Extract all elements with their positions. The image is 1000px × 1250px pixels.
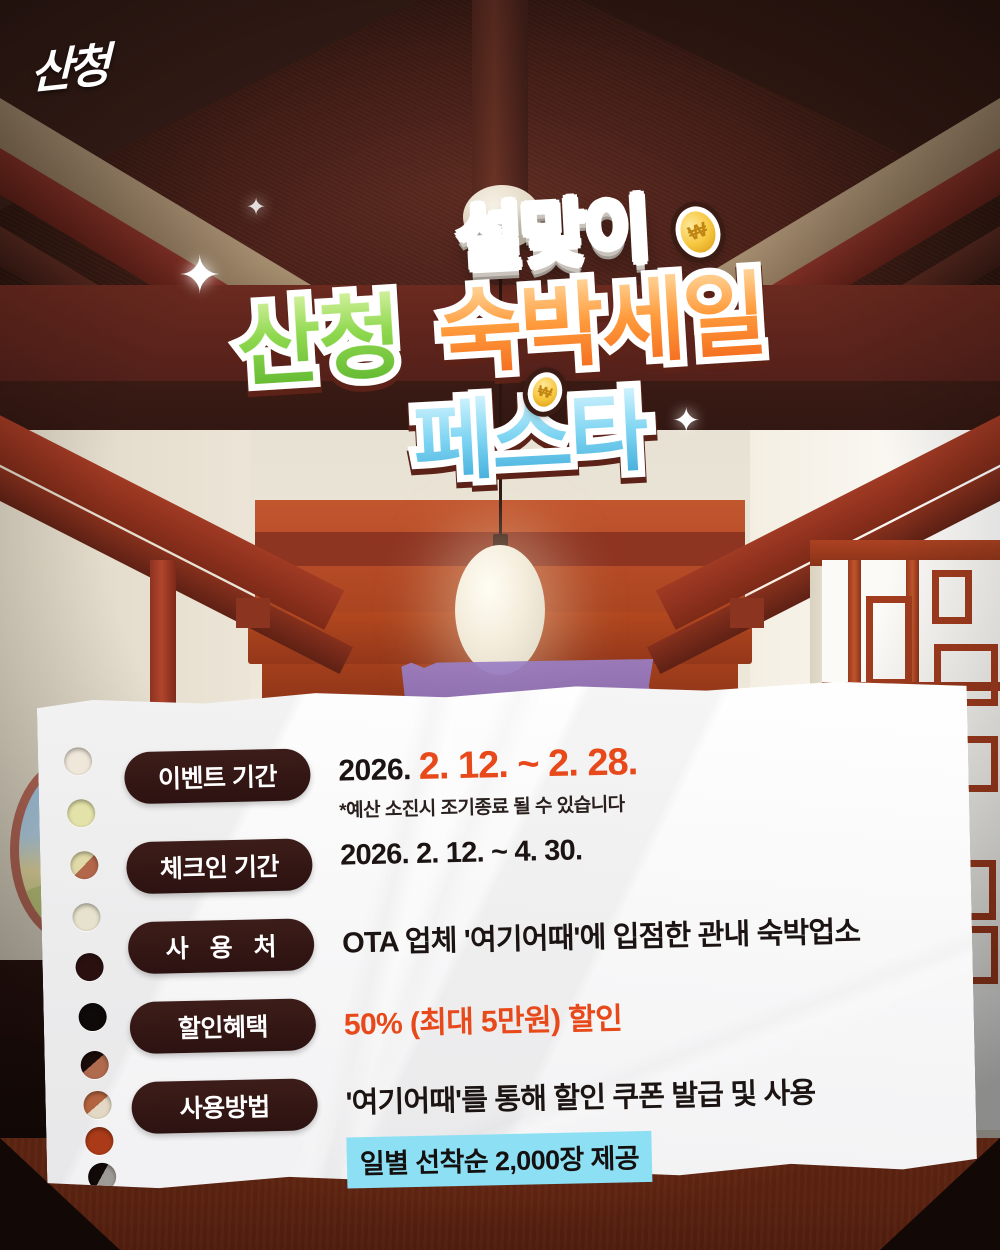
usage-place-value: OTA 업체 '여기어때'에 입점한 관내 숙박업소 (342, 908, 861, 961)
how-to-use-value: '여기어때'를 통해 할인 쿠폰 발급 및 사용 (345, 1069, 816, 1121)
lattice-box (932, 570, 972, 624)
sparkle-icon: ✦ (246, 196, 266, 220)
row-label-checkin-period: 체크인 기간 (126, 838, 313, 894)
info-row-checkin-period: 체크인 기간 2026. 2. 12. ~ 4. 30. (126, 832, 583, 894)
daily-quota-highlight: 일별 선착순 2,000장 제공 (346, 1131, 652, 1189)
poster-root: 산청 설맞이 산청 산청 산청 숙박세일 숙박세일 숙박세일 페스타 페스타 페… (0, 0, 1000, 1250)
info-row-event-period: 이벤트 기간 2026. 2. 12. ~ 2. 28. *예산 소진시 조기종… (124, 741, 638, 827)
event-period-year: 2026. (338, 753, 411, 788)
row-label-discount: 할인혜택 (129, 998, 316, 1054)
lattice-box (866, 596, 912, 686)
row-value-discount: 50% (최대 5만원) 할인 (343, 992, 622, 1044)
pendant-lamp (455, 545, 545, 675)
discount-value: 50% (최대 5만원) 할인 (343, 994, 622, 1044)
event-period-note: *예산 소진시 조기종료 될 수 있습니다 (339, 789, 638, 823)
row-value-how-to-use: '여기어때'를 통해 할인 쿠폰 발급 및 사용 일별 선착순 2,000장 제… (345, 1067, 817, 1188)
row-value-usage-place: OTA 업체 '여기어때'에 입점한 관내 숙박업소 (342, 906, 861, 961)
poster-title: 설맞이 산청 산청 산청 숙박세일 숙박세일 숙박세일 페스타 페스타 페스타 (0, 178, 1000, 488)
row-label-event-period: 이벤트 기간 (124, 748, 311, 804)
checkin-period-value: 2026. 2. 12. ~ 4. 30. (340, 834, 583, 872)
event-period-value: 2026. 2. 12. ~ 2. 28. (338, 743, 638, 789)
sparkle-icon: ✦ (672, 404, 701, 438)
sparkle-icon: ✦ (178, 250, 222, 302)
row-label-how-to-use: 사용방법 (131, 1078, 318, 1134)
row-value-event-period: 2026. 2. 12. ~ 2. 28. *예산 소진시 조기종료 될 수 있… (338, 741, 638, 822)
info-card-rows: 이벤트 기간 2026. 2. 12. ~ 2. 28. *예산 소진시 조기종… (37, 676, 978, 1196)
info-row-discount: 할인혜택 50% (최대 5만원) 할인 (129, 992, 622, 1055)
event-period-dates: 2. 12. ~ 2. 28. (418, 741, 637, 788)
info-row-usage-place: 사 용 처 OTA 업체 '여기어때'에 입점한 관내 숙박업소 (128, 906, 861, 974)
row-label-usage-place: 사 용 처 (128, 918, 315, 974)
column-capital-right (730, 598, 764, 628)
column-capital-left (236, 598, 270, 628)
sancheong-logo: 산청 (30, 27, 159, 105)
info-row-how-to-use: 사용방법 '여기어때'를 통해 할인 쿠폰 발급 및 사용 일별 선착순 2,0… (131, 1067, 817, 1193)
row-value-checkin-period: 2026. 2. 12. ~ 4. 30. (340, 832, 583, 872)
